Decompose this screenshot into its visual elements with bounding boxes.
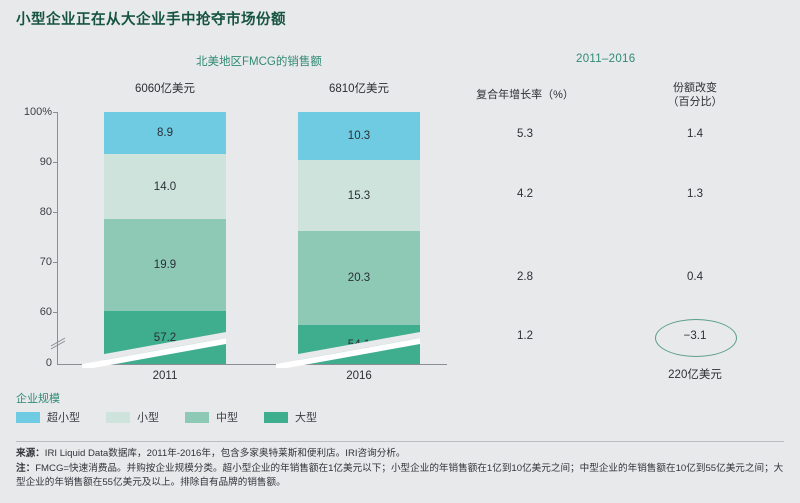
legend-title: 企业规模 — [16, 390, 60, 406]
bar-segment-2016-micro: 10.3 — [298, 112, 420, 160]
share-change-value-small: 1.3 — [630, 188, 760, 200]
highlight-footnote-value: 220亿美元 — [630, 366, 760, 382]
bar-segment-2016-large: 54.1 — [298, 325, 420, 364]
y-tick-mark-90 — [53, 162, 58, 163]
bar-total-2016: 6810亿美元 — [289, 80, 429, 96]
footnote-note-label: 注： — [16, 463, 35, 474]
footnote-divider — [16, 441, 784, 442]
footnote-source: 来源：IRI Liquid Data数据库，2011年-2016年，包含多家奥特… — [16, 447, 788, 462]
column-header-cagr: 复合年增长率（%） — [455, 88, 595, 102]
y-tick-label-0: 0 — [6, 357, 52, 369]
y-tick-label-70: 70 — [6, 256, 52, 268]
cagr-value-mid: 2.8 — [455, 271, 595, 283]
legend-item-small[interactable]: 小型 — [106, 409, 159, 425]
y-tick-mark-70 — [53, 262, 58, 263]
chart-subtitle-left: 北美地区FMCG的销售额 — [196, 53, 322, 69]
stacked-bar-2011[interactable]: 8.9 14.0 19.9 57.2 — [104, 112, 226, 364]
cagr-value-micro: 5.3 — [455, 128, 595, 140]
column-header-share-change: 份额改变 （百分比） — [630, 81, 760, 109]
y-tick-label-100: 100% — [6, 106, 52, 118]
legend-swatch-large-icon — [264, 412, 288, 423]
column-header-share-change-line1: 份额改变 — [630, 81, 760, 95]
stacked-bar-2016[interactable]: 10.3 15.3 20.3 54.1 — [298, 112, 420, 364]
share-change-value-micro: 1.4 — [630, 128, 760, 140]
bar-segment-2011-micro: 8.9 — [104, 112, 226, 154]
legend-label-mid: 中型 — [216, 409, 238, 425]
legend-label-micro: 超小型 — [47, 409, 80, 425]
legend: 超小型 小型 中型 大型 — [16, 409, 343, 425]
y-tick-label-80: 80 — [6, 206, 52, 218]
y-tick-label-90: 90 — [6, 156, 52, 168]
bar-segment-2011-mid: 19.9 — [104, 219, 226, 311]
legend-item-large[interactable]: 大型 — [264, 409, 317, 425]
y-tick-label-60: 60 — [6, 306, 52, 318]
footnotes: 来源：IRI Liquid Data数据库，2011年-2016年，包含多家奥特… — [16, 447, 788, 491]
axis-break-icon — [50, 334, 66, 350]
chart-subtitle-right: 2011–2016 — [576, 53, 635, 65]
share-change-value-mid: 0.4 — [630, 271, 760, 283]
legend-swatch-small-icon — [106, 412, 130, 423]
infographic-canvas: 小型企业正在从大企业手中抢夺市场份额 北美地区FMCG的销售额 2011–201… — [0, 0, 800, 503]
y-tick-mark-80 — [53, 212, 58, 213]
x-axis-label-2016: 2016 — [289, 370, 429, 382]
page-title: 小型企业正在从大企业手中抢夺市场份额 — [16, 8, 286, 29]
legend-label-small: 小型 — [137, 409, 159, 425]
bar-total-2011: 6060亿美元 — [95, 80, 235, 96]
share-change-value-large: −3.1 — [630, 330, 760, 342]
y-axis-line — [57, 112, 58, 364]
bar-segment-2011-large: 57.2 — [104, 311, 226, 364]
legend-label-large: 大型 — [295, 409, 317, 425]
bar-segment-2016-mid: 20.3 — [298, 231, 420, 325]
legend-swatch-mid-icon — [185, 412, 209, 423]
y-tick-mark-60 — [53, 312, 58, 313]
bar-segment-2016-small: 15.3 — [298, 160, 420, 231]
footnote-note-text: FMCG=快速消费品。并购按企业规模分类。超小型企业的年销售额在1亿美元以下；小… — [16, 463, 783, 489]
x-axis-line — [57, 364, 447, 365]
footnote-source-text: IRI Liquid Data数据库，2011年-2016年，包含多家奥特莱斯和… — [45, 448, 406, 459]
x-axis-label-2011: 2011 — [95, 370, 235, 382]
bar-segment-2011-small: 14.0 — [104, 154, 226, 219]
legend-item-micro[interactable]: 超小型 — [16, 409, 80, 425]
legend-swatch-micro-icon — [16, 412, 40, 423]
footnote-note: 注：FMCG=快速消费品。并购按企业规模分类。超小型企业的年销售额在1亿美元以下… — [16, 462, 788, 491]
y-tick-mark-100 — [53, 112, 58, 113]
footnote-source-label: 来源： — [16, 448, 45, 459]
cagr-value-large: 1.2 — [455, 330, 595, 342]
cagr-value-small: 4.2 — [455, 188, 595, 200]
column-header-share-change-line2: （百分比） — [630, 95, 760, 109]
legend-item-mid[interactable]: 中型 — [185, 409, 238, 425]
